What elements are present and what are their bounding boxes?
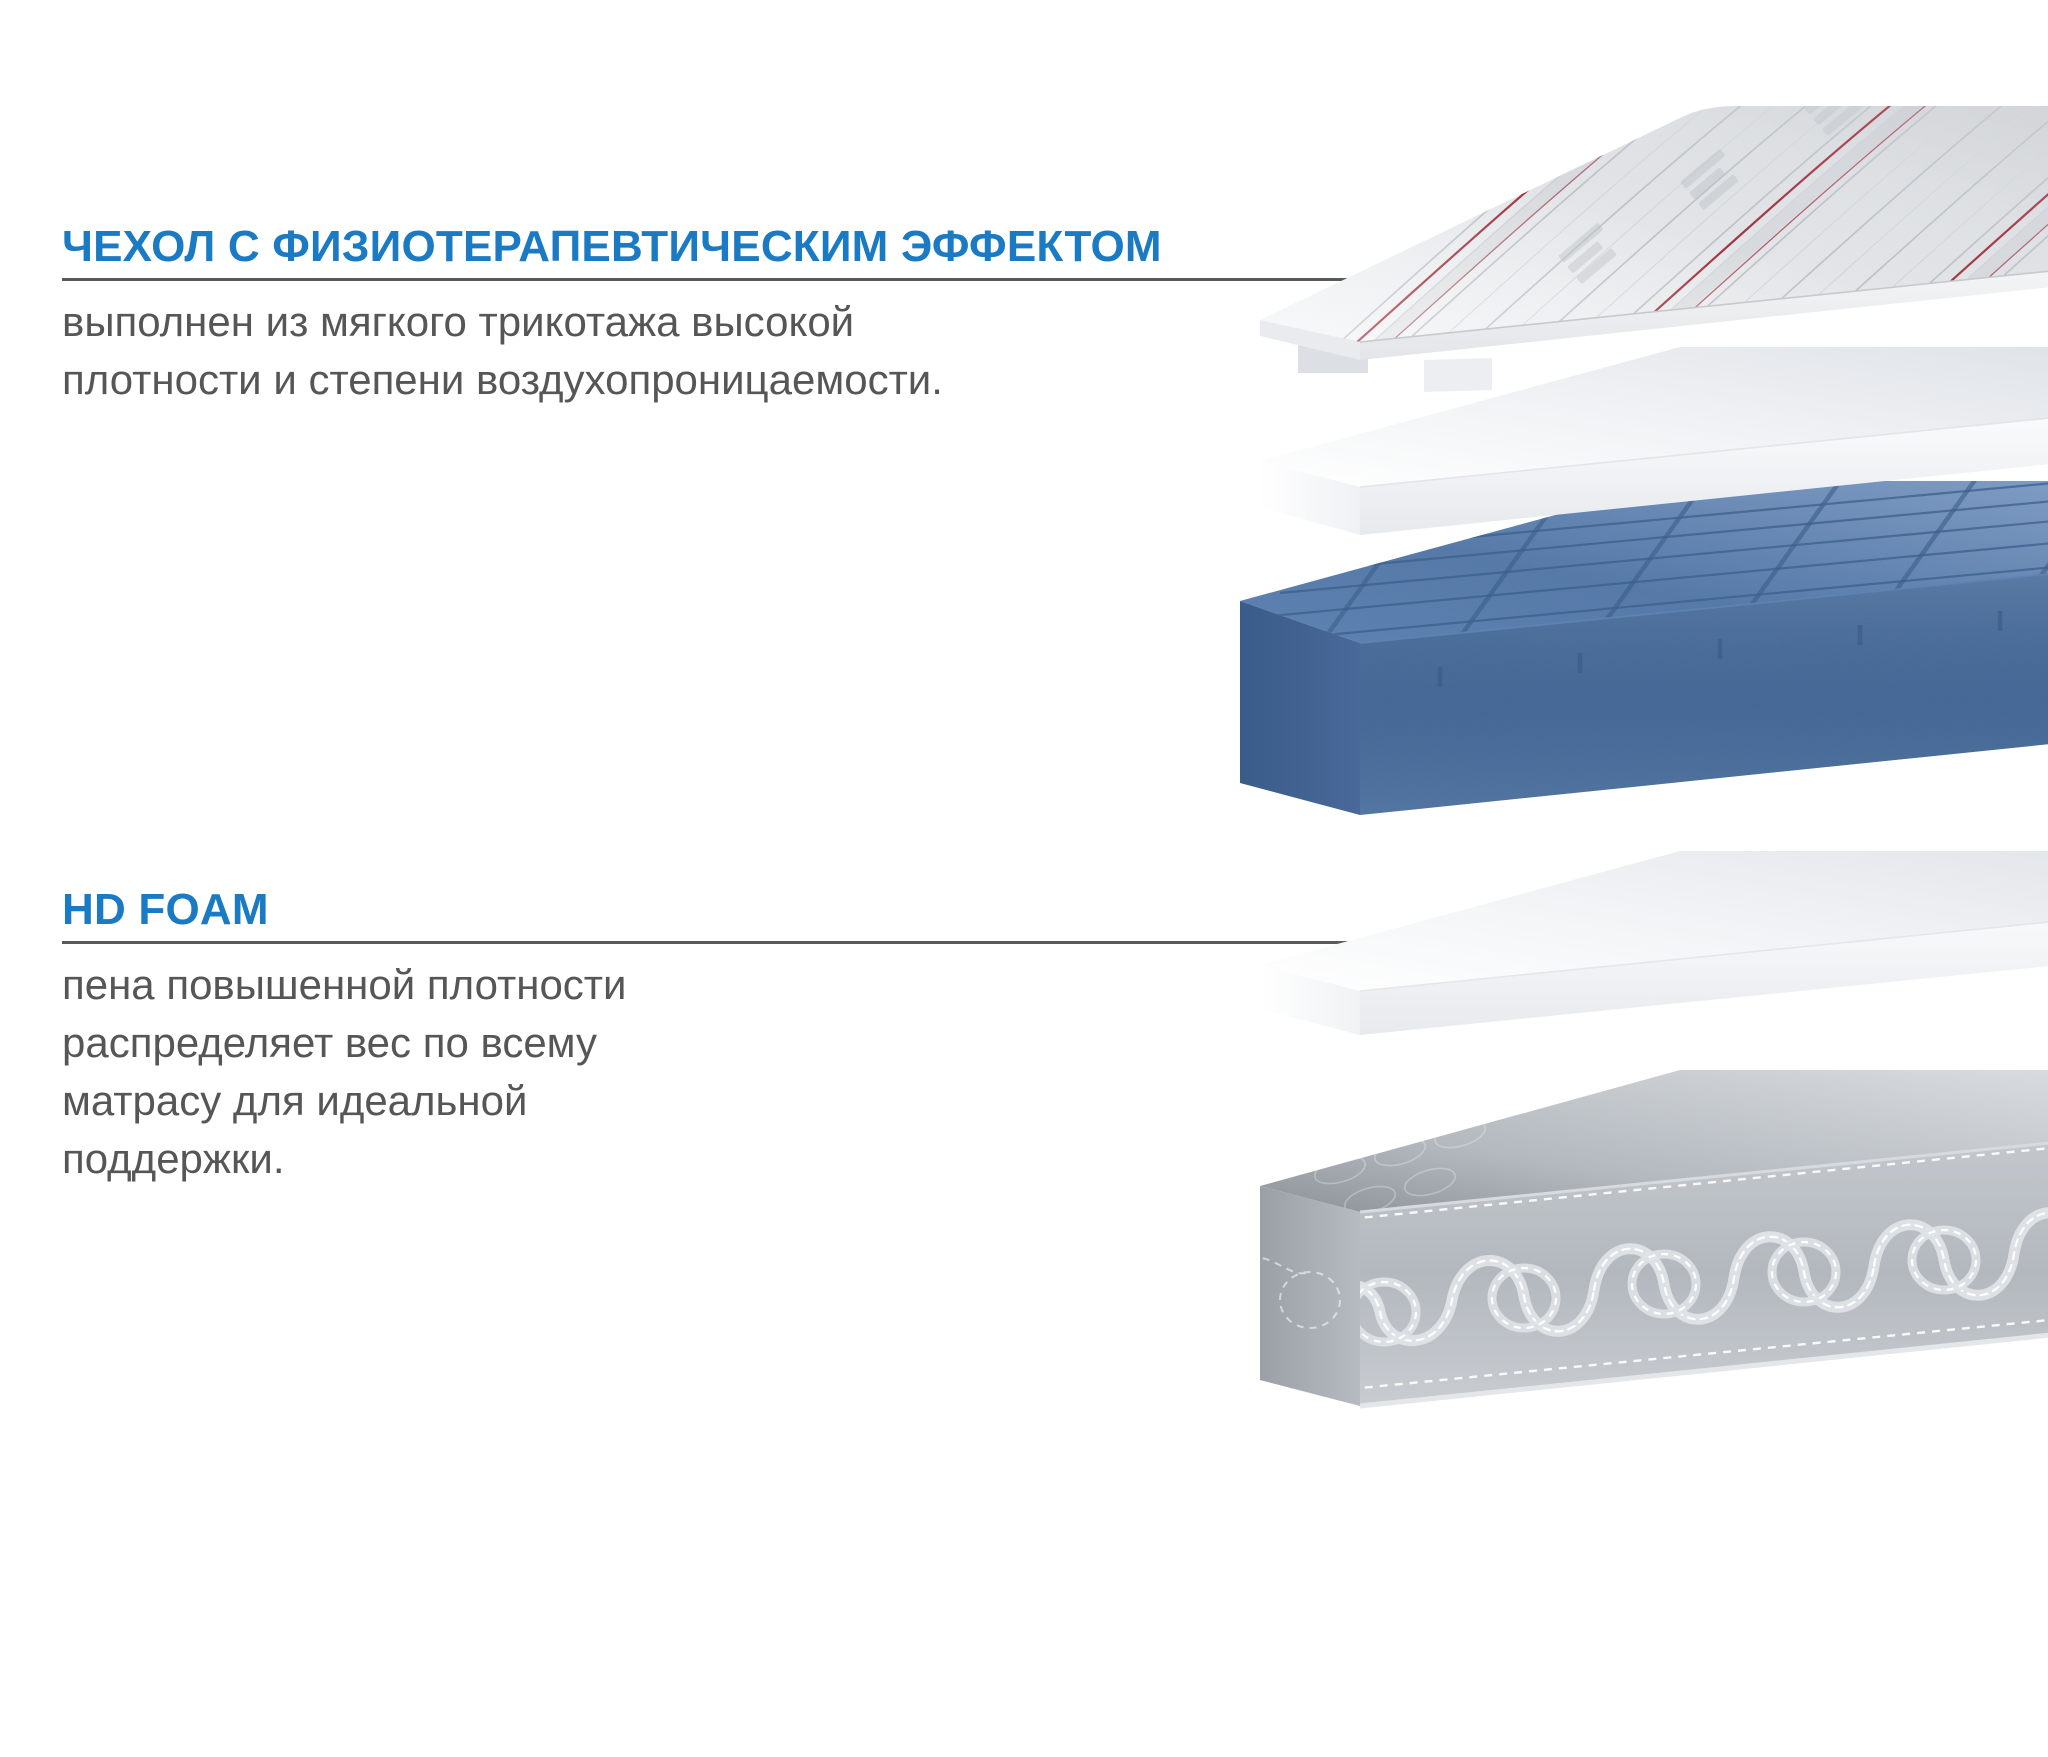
- callout-hd-foam-body-line-2: распределяет вес по всему: [62, 1014, 1497, 1072]
- exploded-mattress-diagram: [1380, 60, 2048, 1757]
- callout-cover-body-line-2: плотности и степени воздухопроницаемости…: [62, 351, 1447, 409]
- callout-cover-heading: ЧЕХОЛ С ФИЗИОТЕРАПЕВТИЧЕСКИМ ЭФФЕКТОМ: [62, 222, 1447, 272]
- callout-hd-foam-rule: [62, 941, 1497, 944]
- infographic-page: ЧЕХОЛ С ФИЗИОТЕРАПЕВТИЧЕСКИМ ЭФФЕКТОМ вы…: [0, 0, 2048, 1757]
- callout-hd-foam: HD FOAM пена повышенной плотности распре…: [62, 885, 1497, 1188]
- callout-hd-foam-body-line-3: матрасу для идеальной: [62, 1072, 1497, 1130]
- mattress-layer-white-foam-bottom: [1380, 795, 2048, 1215]
- mattress-layer-knitted-cover: [1380, 60, 2048, 480]
- callout-cover-body-line-1: выполнен из мягкого трикотажа высокой: [62, 293, 1447, 351]
- callout-cover: ЧЕХОЛ С ФИЗИОТЕРАПЕВТИЧЕСКИМ ЭФФЕКТОМ вы…: [62, 222, 1447, 409]
- callout-hd-foam-body-line-4: поддержки.: [62, 1130, 1497, 1188]
- callout-cover-rule: [62, 278, 1447, 281]
- callout-cover-body: выполнен из мягкого трикотажа высокой пл…: [62, 293, 1447, 409]
- callout-hd-foam-heading: HD FOAM: [62, 885, 1497, 935]
